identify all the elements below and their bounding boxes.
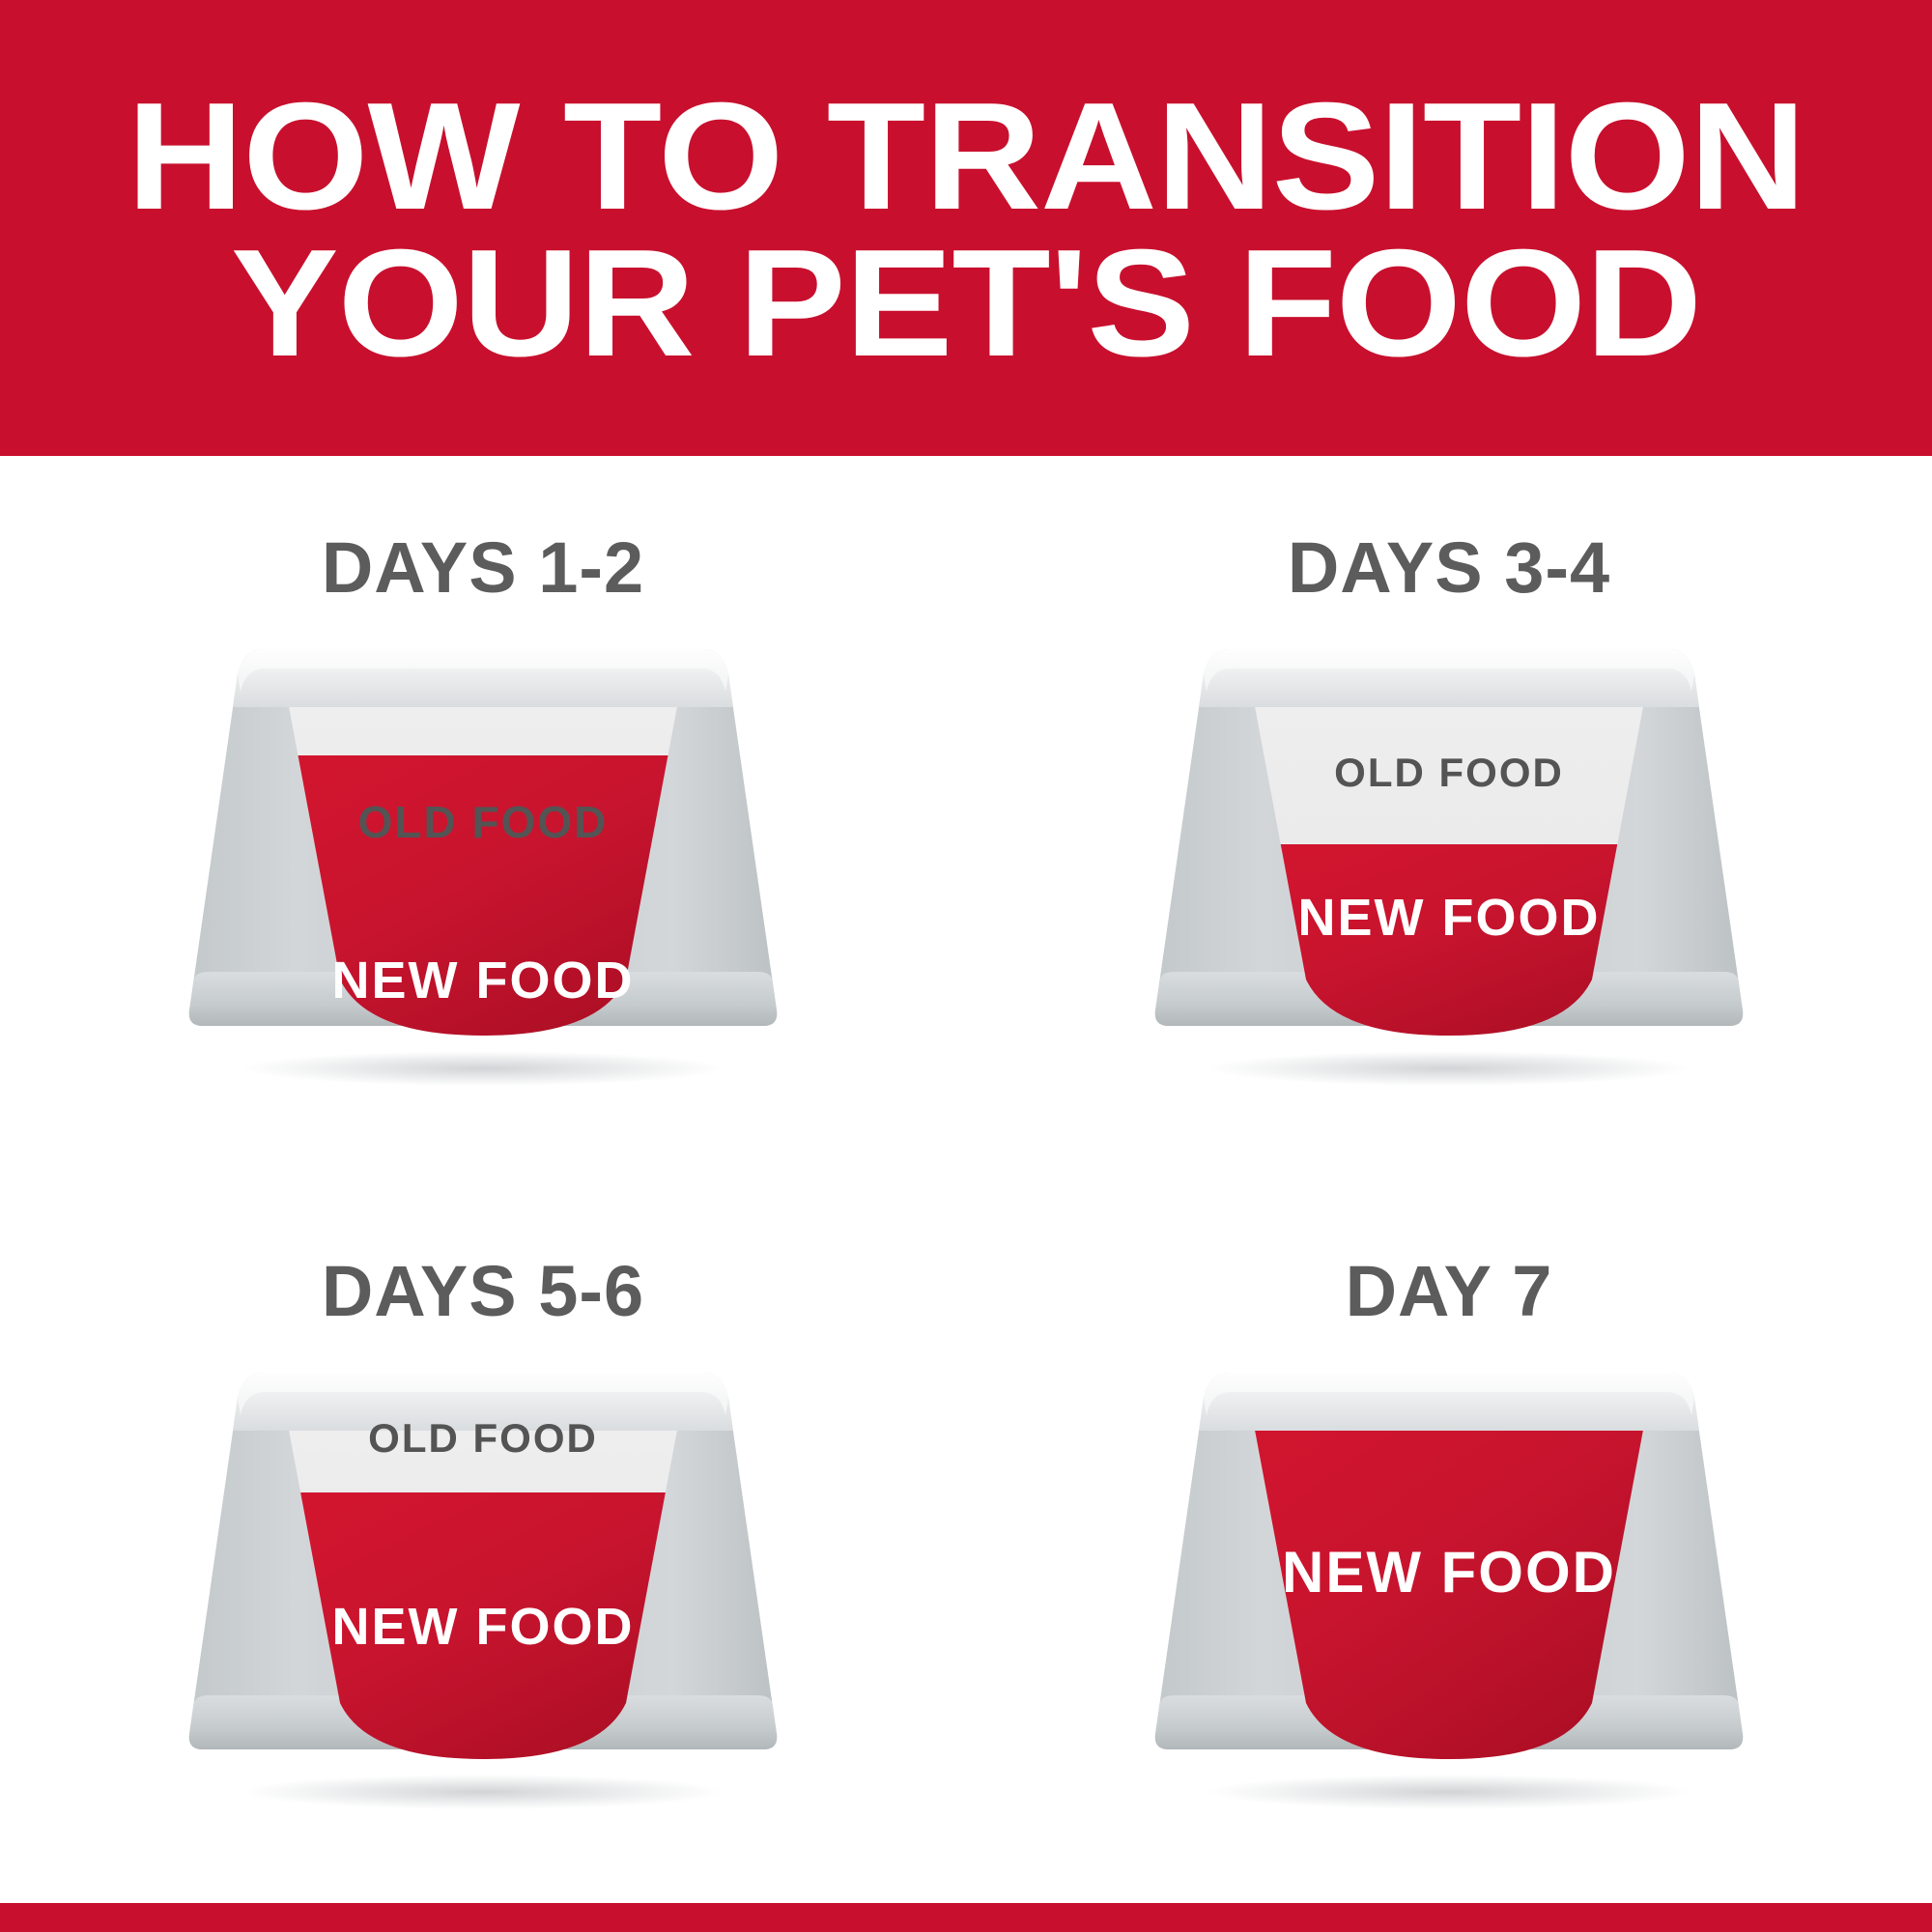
stage-days-5-6[interactable]: DAYS 5-6	[0, 1179, 966, 1903]
infographic-page: HOW TO TRANSITION YOUR PET'S FOOD DAYS 1…	[0, 0, 1932, 1932]
stage-label-days-5-6: DAYS 5-6	[0, 1255, 966, 1328]
stage-label-days-1-2: DAYS 1-2	[0, 531, 966, 605]
page-title: HOW TO TRANSITION YOUR PET'S FOOD	[0, 83, 1932, 377]
stage-grid: DAYS 1-2	[0, 456, 1932, 1903]
bowl-day-7: NEW FOOD	[1140, 1355, 1758, 1819]
bowl-days-5-6: OLD FOOD NEW FOOD	[174, 1355, 792, 1819]
bowl-illustration-days-5-6	[174, 1355, 792, 1819]
stage-day-7[interactable]: DAY 7	[966, 1179, 1932, 1903]
header-banner: HOW TO TRANSITION YOUR PET'S FOOD	[0, 0, 1932, 456]
stage-label-day-7: DAY 7	[966, 1255, 1932, 1328]
bowl-illustration-days-1-2	[174, 632, 792, 1095]
stage-label-days-3-4: DAYS 3-4	[966, 531, 1932, 605]
bowl-days-1-2: OLD FOOD NEW FOOD	[174, 632, 792, 1095]
stage-days-1-2[interactable]: DAYS 1-2	[0, 456, 966, 1179]
bowl-illustration-days-3-4	[1140, 632, 1758, 1095]
stage-days-3-4[interactable]: DAYS 3-4	[966, 456, 1932, 1179]
bowl-days-3-4: OLD FOOD NEW FOOD	[1140, 632, 1758, 1095]
footer-bar	[0, 1903, 1932, 1932]
bowl-illustration-day-7	[1140, 1355, 1758, 1819]
